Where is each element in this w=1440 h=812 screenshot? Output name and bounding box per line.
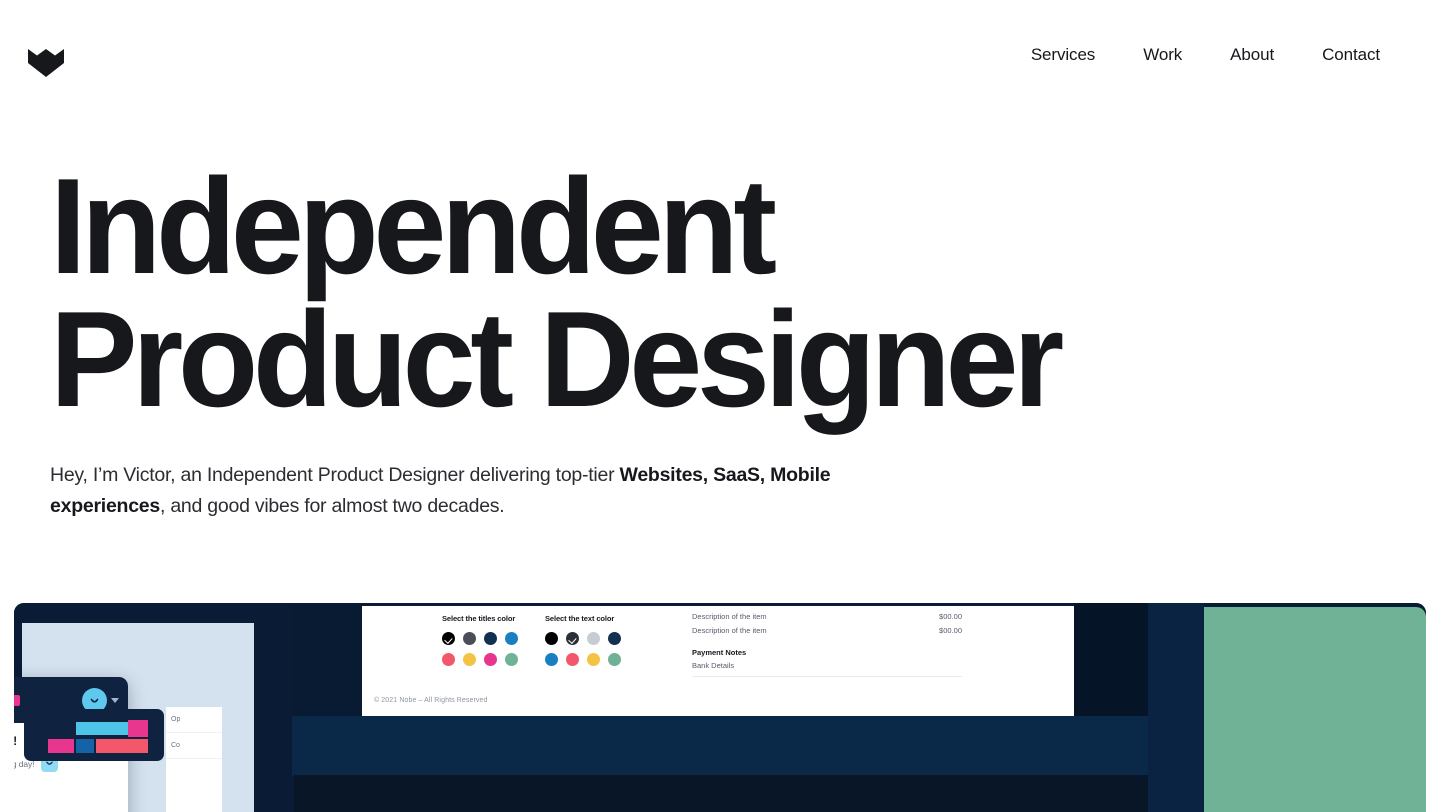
- dot-icon: [14, 695, 20, 706]
- app-card-thumbnail: [24, 709, 164, 761]
- showcase-left-top-navy: [22, 603, 254, 623]
- color-swatch[interactable]: [608, 653, 621, 666]
- page-root: Services Work About Contact Independent …: [0, 0, 1440, 812]
- showcase-lower-panel: [294, 775, 1224, 812]
- invoice-amount: $00.00: [939, 612, 962, 621]
- chevron-down-icon: [111, 698, 119, 703]
- showcase-dark-block-right: [1074, 603, 1148, 717]
- subtitle-part-2: , and good vibes for almost two decades.: [160, 495, 504, 517]
- invoice-amount: $00.00: [939, 626, 962, 635]
- payment-notes-title: Payment Notes: [692, 648, 962, 657]
- payment-notes-subtitle: Bank Details: [692, 661, 962, 670]
- color-swatch[interactable]: [608, 632, 621, 645]
- thumb-bar: [76, 722, 134, 735]
- page-title: Independent Product Designer: [50, 160, 1343, 427]
- color-swatch[interactable]: [587, 632, 600, 645]
- thumb-bar: [128, 720, 148, 737]
- text-color-palette: Select the text color: [545, 614, 621, 674]
- nav-item-about[interactable]: About: [1206, 39, 1298, 71]
- color-swatch[interactable]: [463, 632, 476, 645]
- subtitle-part-1: Hey, I’m Victor, an Independent Product …: [50, 464, 620, 486]
- invoice-row: Description of the item $00.00: [692, 626, 962, 635]
- thumb-bar: [48, 739, 74, 753]
- logo-link[interactable]: [24, 33, 68, 77]
- text-palette-label: Select the text color: [545, 614, 621, 623]
- site-header: Services Work About Contact: [0, 0, 1440, 110]
- invoice-description: Description of the item: [692, 626, 767, 635]
- color-swatch[interactable]: [463, 653, 476, 666]
- color-swatch[interactable]: [566, 653, 579, 666]
- color-swatch[interactable]: [505, 632, 518, 645]
- color-swatch[interactable]: [587, 653, 600, 666]
- nav-item-contact[interactable]: Contact: [1298, 39, 1380, 71]
- titles-color-palette: Select the titles color: [442, 614, 518, 674]
- showcase-right-navy-strip: [1148, 603, 1204, 812]
- color-swatch[interactable]: [545, 632, 558, 645]
- invoice-row: Description of the item $00.00: [692, 612, 962, 621]
- nav-item-work[interactable]: Work: [1119, 39, 1206, 71]
- showcase-artwork: Alejandro! ng an amazing day! Op C: [14, 603, 1426, 812]
- smile-icon: [88, 694, 101, 707]
- hero-subtitle: Hey, I’m Victor, an Independent Product …: [50, 460, 850, 522]
- color-swatch[interactable]: [484, 632, 497, 645]
- headline-line-2: Product Designer: [50, 293, 1343, 426]
- titles-palette-label: Select the titles color: [442, 614, 518, 623]
- document-mockup: Select the titles color: [362, 606, 1147, 718]
- color-swatch[interactable]: [505, 653, 518, 666]
- text-palette-row-2: [545, 653, 621, 666]
- color-swatch[interactable]: [484, 653, 497, 666]
- list-item: Op: [166, 707, 222, 733]
- thumb-bar: [96, 739, 148, 753]
- app-card-dots: [14, 695, 20, 706]
- color-swatch[interactable]: [545, 653, 558, 666]
- document-copyright: © 2021 Nobe – All Rights Reserved: [374, 697, 488, 704]
- hero-section: Independent Product Designer Hey, I’m Vi…: [50, 160, 1390, 427]
- showcase-green-panel: [1204, 607, 1426, 812]
- chevron-logo-icon: [24, 33, 68, 77]
- nav-item-services[interactable]: Services: [1007, 39, 1119, 71]
- thumb-bar: [76, 739, 94, 753]
- text-palette-row-1: [545, 632, 621, 645]
- list-item: Co: [166, 733, 222, 759]
- main-nav: Services Work About Contact: [1007, 39, 1380, 71]
- invoice-description: Description of the item: [692, 612, 767, 621]
- titles-palette-row-1: [442, 632, 518, 645]
- color-swatch[interactable]: [566, 632, 579, 645]
- color-swatch[interactable]: [442, 632, 455, 645]
- showcase-dark-block-left: [292, 603, 364, 717]
- color-swatch[interactable]: [442, 653, 455, 666]
- app-card-list: Op Co: [166, 707, 222, 812]
- titles-palette-row-2: [442, 653, 518, 666]
- invoice-panel: Description of the item $00.00 Descripti…: [692, 612, 962, 677]
- headline-line-1: Independent: [50, 160, 1343, 293]
